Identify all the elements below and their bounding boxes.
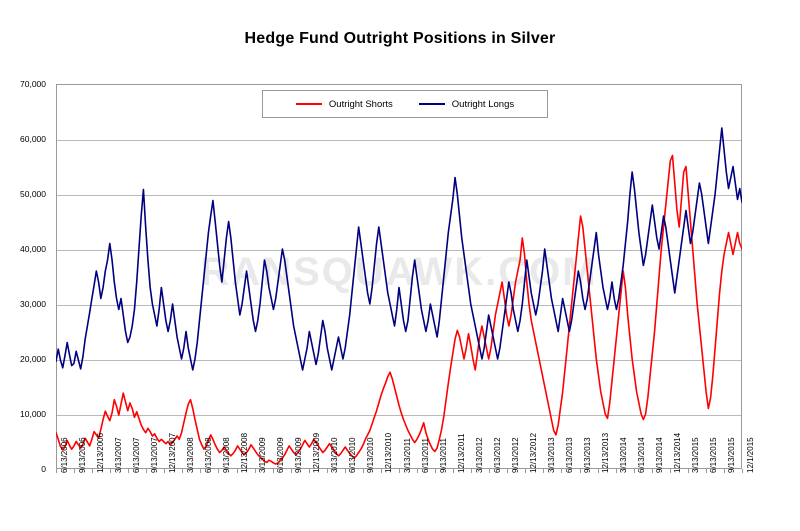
x-axis-tick xyxy=(200,469,201,473)
x-axis-tick xyxy=(561,469,562,473)
x-axis-tick-label: 3/13/2011 xyxy=(403,438,412,473)
x-axis-tick xyxy=(128,469,129,473)
x-axis-tick xyxy=(399,469,400,473)
x-axis-tick xyxy=(598,469,599,473)
x-axis-tick xyxy=(182,469,183,473)
legend-label: Outright Shorts xyxy=(329,99,393,110)
x-axis-tick-label: 12/13/2010 xyxy=(384,433,393,473)
legend-label: Outright Longs xyxy=(452,99,514,110)
x-axis-tick-label: 6/13/2009 xyxy=(276,437,285,473)
x-axis-tick-label: 12/13/2009 xyxy=(312,433,321,473)
x-axis-tick xyxy=(634,469,635,473)
x-axis-tick xyxy=(525,469,526,473)
x-axis-tick xyxy=(309,469,310,473)
x-axis-tick-label: 6/13/2015 xyxy=(709,437,718,473)
y-axis-tick-label: 10,000 xyxy=(0,409,52,419)
x-axis-tick xyxy=(218,469,219,473)
x-axis-tick-label: 12/13/2006 xyxy=(96,433,105,473)
y-axis-tick-label: 50,000 xyxy=(0,189,52,199)
legend-item[interactable]: Outright Shorts xyxy=(296,99,393,110)
x-axis-tick xyxy=(543,469,544,473)
x-axis-tick xyxy=(56,469,57,473)
x-axis-tick xyxy=(146,469,147,473)
x-axis-tick xyxy=(688,469,689,473)
x-axis-tick xyxy=(616,469,617,473)
x-axis-tick-label: 9/13/2007 xyxy=(150,437,159,473)
x-axis-tick-label: 6/13/2007 xyxy=(132,437,141,473)
series-layer xyxy=(56,84,742,469)
y-axis-tick-label: 40,000 xyxy=(0,244,52,254)
chart-container: Hedge Fund Outright Positions in Silver … xyxy=(0,0,800,531)
x-axis-tick-label: 3/13/2013 xyxy=(547,437,556,473)
x-axis-tick-label: 12/1/2015 xyxy=(746,437,755,473)
x-axis-tick xyxy=(273,469,274,473)
x-axis-tick xyxy=(453,469,454,473)
x-axis-tick-label: 12/13/2014 xyxy=(673,433,682,473)
x-axis-tick-label: 3/13/2007 xyxy=(114,437,123,473)
x-axis-tick-label: 9/13/2012 xyxy=(511,437,520,473)
series-line xyxy=(56,128,742,370)
x-axis-tick-label: 6/13/2006 xyxy=(60,437,69,473)
y-axis-tick-label: 70,000 xyxy=(0,79,52,89)
x-axis-tick xyxy=(92,469,93,473)
x-axis-tick xyxy=(110,469,111,473)
x-axis-tick-label: 3/13/2014 xyxy=(619,437,628,473)
y-axis-tick-label: 60,000 xyxy=(0,134,52,144)
legend-color-swatch xyxy=(419,103,445,106)
y-axis-tick-label: 0 xyxy=(0,464,52,474)
x-axis-tick-label: 9/13/2009 xyxy=(294,437,303,473)
x-axis-tick xyxy=(507,469,508,473)
x-axis-tick xyxy=(74,469,75,473)
x-axis-tick xyxy=(381,469,382,473)
x-axis-tick xyxy=(291,469,292,473)
chart-legend: Outright ShortsOutright Longs xyxy=(262,90,548,118)
x-axis-tick xyxy=(345,469,346,473)
x-axis-tick xyxy=(164,469,165,473)
x-axis-tick-label: 9/13/2014 xyxy=(655,437,664,473)
x-axis-tick-label: 9/13/2010 xyxy=(366,437,375,473)
x-axis-tick-label: 3/13/2009 xyxy=(258,437,267,473)
y-axis-tick-label: 30,000 xyxy=(0,299,52,309)
x-axis-tick-label: 3/13/2012 xyxy=(475,437,484,473)
x-axis-tick-label: 12/13/2007 xyxy=(168,433,177,473)
x-axis-tick xyxy=(580,469,581,473)
x-axis-tick xyxy=(471,469,472,473)
x-axis-tick-label: 9/13/2015 xyxy=(727,437,736,473)
x-axis-tick xyxy=(435,469,436,473)
x-axis-tick-label: 6/13/2014 xyxy=(637,437,646,473)
x-axis-tick-label: 12/13/2013 xyxy=(601,433,610,473)
x-axis-tick xyxy=(255,469,256,473)
x-axis-tick-label: 6/13/2008 xyxy=(204,437,213,473)
x-axis-tick-label: 9/13/2013 xyxy=(583,437,592,473)
x-axis-tick xyxy=(724,469,725,473)
x-axis-tick xyxy=(417,469,418,473)
x-axis-tick xyxy=(652,469,653,473)
x-axis-tick-label: 12/13/2012 xyxy=(529,433,538,473)
x-axis-tick-label: 6/13/2013 xyxy=(565,437,574,473)
x-axis-tick-label: 3/13/2008 xyxy=(186,437,195,473)
x-axis-tick xyxy=(706,469,707,473)
x-axis-tick-label: 12/13/2008 xyxy=(240,433,249,473)
legend-color-swatch xyxy=(296,103,322,106)
x-axis-tick-label: 12/13/2011 xyxy=(457,434,466,473)
x-axis-tick xyxy=(670,469,671,473)
x-axis-tick xyxy=(327,469,328,473)
x-axis-tick-label: 3/13/2015 xyxy=(691,437,700,473)
x-axis-tick xyxy=(742,469,743,473)
x-axis-tick xyxy=(237,469,238,473)
x-axis-tick-label: 6/13/2011 xyxy=(421,438,430,473)
x-axis-tick xyxy=(489,469,490,473)
x-axis-tick-label: 3/13/2010 xyxy=(330,437,339,473)
chart-title: Hedge Fund Outright Positions in Silver xyxy=(0,30,800,48)
x-axis-tick-label: 6/13/2012 xyxy=(493,437,502,473)
y-axis-tick-label: 20,000 xyxy=(0,354,52,364)
x-axis-tick-label: 6/13/2010 xyxy=(348,437,357,473)
x-axis-tick-label: 9/13/2011 xyxy=(439,438,448,473)
x-axis-tick xyxy=(363,469,364,473)
x-axis-tick-label: 9/13/2008 xyxy=(222,437,231,473)
legend-item[interactable]: Outright Longs xyxy=(419,99,514,110)
x-axis-tick-label: 9/13/2006 xyxy=(78,437,87,473)
